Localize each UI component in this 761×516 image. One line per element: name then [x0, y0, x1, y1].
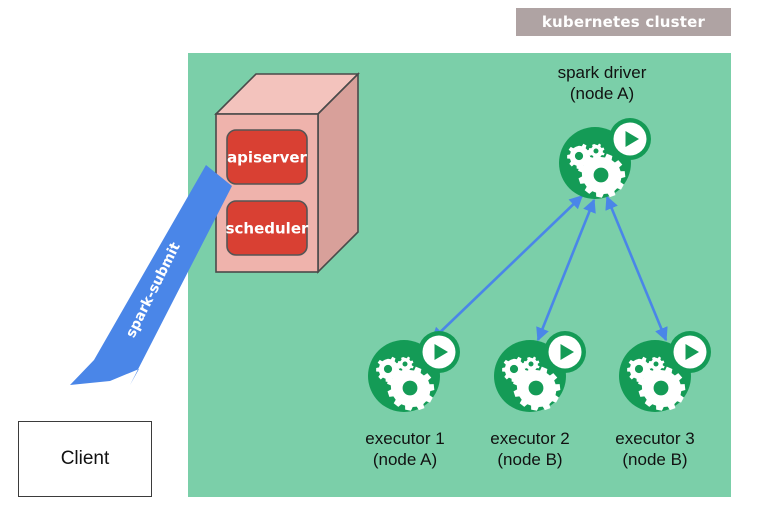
apiserver-label: apiserver — [227, 149, 307, 167]
spark-driver-name: spark driver — [527, 62, 677, 83]
spark-driver-node: (node A) — [527, 83, 677, 104]
connector-driver-executor-2 — [538, 200, 594, 340]
scheduler-service-box[interactable]: scheduler — [226, 201, 309, 255]
executor-3-caption: executor 3 (node B) — [580, 428, 730, 470]
diagram-canvas: kubernetes cluster Client — [0, 0, 761, 516]
apiserver-service-box[interactable]: apiserver — [227, 130, 308, 184]
executor-1-icon[interactable] — [368, 331, 460, 412]
connector-driver-executor-1 — [432, 196, 582, 340]
executor-3-name: executor 3 — [580, 428, 730, 449]
spark-driver-caption: spark driver (node A) — [527, 62, 677, 104]
spark-driver-icon[interactable] — [559, 118, 651, 199]
connector-driver-executor-3 — [607, 197, 666, 340]
spark-submit-arrow: spark-submit — [70, 165, 232, 385]
driver-executor-connectors — [432, 196, 666, 340]
executor-3-node: (node B) — [580, 449, 730, 470]
executor-2-icon[interactable] — [494, 331, 586, 412]
scheduler-label: scheduler — [226, 220, 309, 238]
executor-3-icon[interactable] — [619, 331, 711, 412]
control-plane-cube: apiserver scheduler — [216, 74, 358, 272]
